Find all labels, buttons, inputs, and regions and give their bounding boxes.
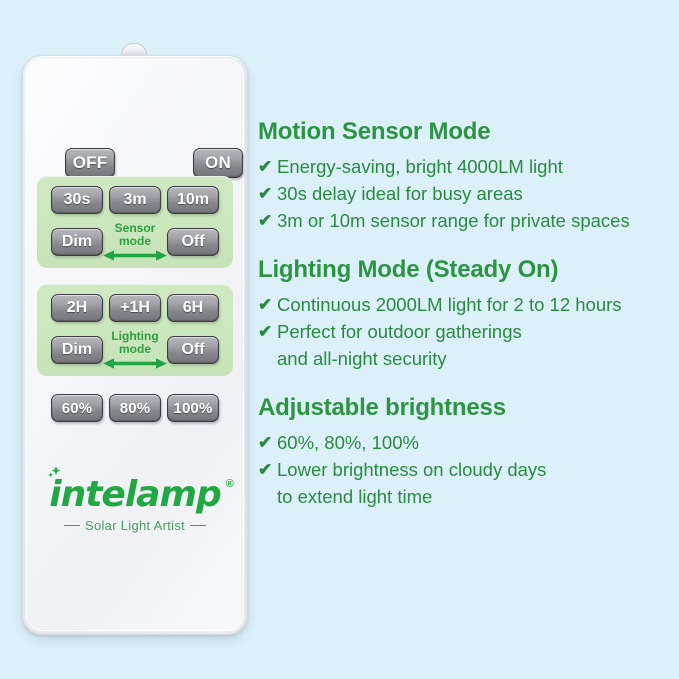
bullet-list: ✔ Energy-saving, bright 4000LM light ✔ 3…	[258, 154, 673, 234]
lighting-6h-button[interactable]: 6H	[167, 294, 219, 322]
brightness-80-label: 80%	[120, 400, 151, 417]
sensor-mode-panel: 30s 3m 10m Dim Off Sensor mode	[37, 176, 233, 268]
brightness-80-button[interactable]: 80%	[109, 394, 161, 422]
lighting-mode-panel: 2H +1H 6H Dim Off Lighting mode	[37, 284, 233, 376]
check-icon: ✔	[258, 181, 275, 207]
bullet-text: 30s delay ideal for busy areas	[277, 181, 673, 207]
sensor-mode-label-line2: mode	[99, 235, 171, 248]
bullet-text: Energy-saving, bright 4000LM light	[277, 154, 673, 180]
lighting-plus1h-label: +1H	[120, 299, 150, 317]
bullet-item: ✔ Continuous 2000LM light for 2 to 12 ho…	[258, 292, 673, 318]
brand-tagline: Solar Light Artist	[23, 518, 247, 533]
bullet-text: Lower brightness on cloudy days	[277, 457, 673, 483]
bullet-text: 60%, 80%, 100%	[277, 430, 673, 456]
sensor-range-3m-button[interactable]: 3m	[109, 186, 161, 214]
bullet-item: ✔ 3m or 10m sensor range for private spa…	[258, 208, 673, 234]
tagline-text: Solar Light Artist	[85, 518, 185, 533]
bullet-item: ✔ Perfect for outdoor gatherings	[258, 319, 673, 345]
lighting-2h-label: 2H	[67, 299, 87, 317]
lighting-dim-label: Dim	[62, 341, 92, 359]
bullet-text: Perfect for outdoor gatherings	[277, 319, 673, 345]
bullet-item: ✔ 30s delay ideal for busy areas	[258, 181, 673, 207]
brightness-60-label: 60%	[62, 400, 93, 417]
lighting-mode-label-line2: mode	[99, 343, 171, 356]
check-icon: ✔	[258, 319, 275, 345]
sensor-mode-label: Sensor mode	[99, 222, 171, 248]
bullet-item: ✔ Lower brightness on cloudy days	[258, 457, 673, 483]
sensor-delay-30s-button[interactable]: 30s	[51, 186, 103, 214]
section-heading: Adjustable brightness	[258, 394, 673, 422]
bullet-item: ✔ Energy-saving, bright 4000LM light	[258, 154, 673, 180]
bullet-list: ✔ Continuous 2000LM light for 2 to 12 ho…	[258, 292, 673, 345]
bullet-continuation: and all-night security	[277, 346, 673, 372]
remote-control: OFF ON 30s 3m 10m Dim Of	[22, 43, 246, 633]
feature-section-motion-sensor: Motion Sensor Mode ✔ Energy-saving, brig…	[258, 118, 673, 234]
lighting-off-label: Off	[181, 341, 204, 359]
feature-section-adjustable-brightness: Adjustable brightness ✔ 60%, 80%, 100% ✔…	[258, 394, 673, 510]
lighting-plus1h-button[interactable]: +1H	[109, 294, 161, 322]
sensor-off-button[interactable]: Off	[167, 228, 219, 256]
sensor-dim-label: Dim	[62, 233, 92, 251]
section-heading: Lighting Mode (Steady On)	[258, 256, 673, 284]
bullet-list: ✔ 60%, 80%, 100% ✔ Lower brightness on c…	[258, 430, 673, 483]
power-on-button[interactable]: ON	[193, 148, 243, 178]
check-icon: ✔	[258, 154, 275, 180]
lighting-2h-button[interactable]: 2H	[51, 294, 103, 322]
sensor-mode-double-arrow-icon	[103, 250, 167, 261]
tagline-rule-left	[64, 525, 80, 526]
sensor-range-10m-button[interactable]: 10m	[167, 186, 219, 214]
sparkle-icon	[47, 466, 69, 484]
product-feature-image: OFF ON 30s 3m 10m Dim Of	[0, 0, 679, 679]
brand-name: intelamp	[49, 474, 221, 515]
brightness-60-button[interactable]: 60%	[51, 394, 103, 422]
sensor-delay-30s-label: 30s	[64, 191, 91, 209]
brightness-100-button[interactable]: 100%	[167, 394, 219, 422]
remote-body: OFF ON 30s 3m 10m Dim Of	[22, 55, 248, 635]
lighting-mode-double-arrow-icon	[103, 358, 167, 369]
power-on-label: ON	[205, 153, 231, 173]
lighting-off-button[interactable]: Off	[167, 336, 219, 364]
lighting-dim-button[interactable]: Dim	[51, 336, 103, 364]
tagline-rule-right	[190, 525, 206, 526]
sensor-dim-button[interactable]: Dim	[51, 228, 103, 256]
check-icon: ✔	[258, 430, 275, 456]
check-icon: ✔	[258, 208, 275, 234]
registered-trademark-icon: ®	[226, 478, 234, 490]
feature-section-lighting-mode: Lighting Mode (Steady On) ✔ Continuous 2…	[258, 256, 673, 372]
feature-text-column: Motion Sensor Mode ✔ Energy-saving, brig…	[258, 118, 673, 532]
power-off-button[interactable]: OFF	[65, 148, 115, 178]
sensor-range-10m-label: 10m	[177, 191, 209, 209]
section-heading: Motion Sensor Mode	[258, 118, 673, 146]
brand-logo: intelamp ® Solar Light Artist	[23, 476, 247, 533]
check-icon: ✔	[258, 457, 275, 483]
sensor-range-3m-label: 3m	[123, 191, 146, 209]
brightness-100-label: 100%	[173, 400, 212, 417]
bullet-text: 3m or 10m sensor range for private space…	[277, 208, 673, 234]
bullet-continuation: to extend light time	[277, 484, 673, 510]
check-icon: ✔	[258, 292, 275, 318]
bullet-item: ✔ 60%, 80%, 100%	[258, 430, 673, 456]
bullet-text: Continuous 2000LM light for 2 to 12 hour…	[277, 292, 673, 318]
lighting-6h-label: 6H	[183, 299, 203, 317]
lighting-mode-label: Lighting mode	[99, 330, 171, 356]
power-off-label: OFF	[73, 153, 108, 173]
sensor-off-label: Off	[181, 233, 204, 251]
